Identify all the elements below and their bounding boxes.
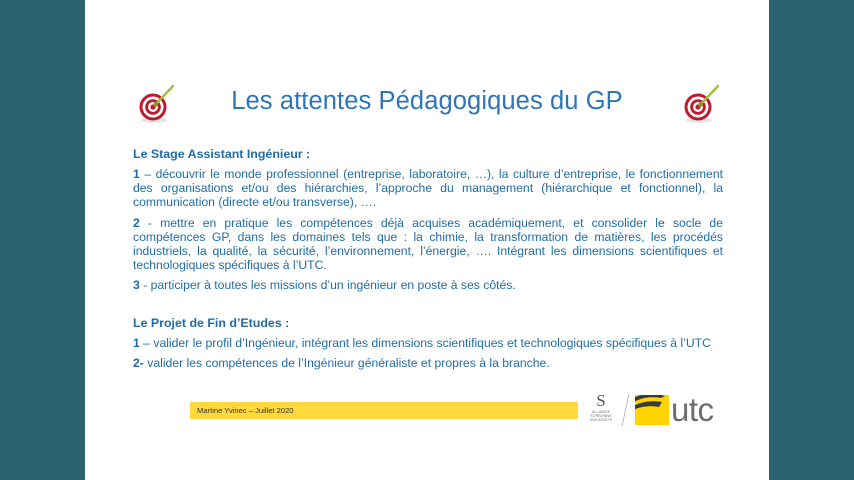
utc-wordmark: utc	[671, 391, 714, 429]
item-dash: -	[143, 278, 147, 292]
list-item: 1 – valider le profil d’Ingénieur, intég…	[133, 336, 723, 350]
item-number: 2	[133, 216, 140, 230]
item-text: valider le profil d’Ingénieur, intégrant…	[153, 336, 711, 350]
page-title: Les attentes Pédagogiques du GP	[85, 78, 769, 124]
item-number: 2-	[133, 356, 144, 370]
title-row: Les attentes Pédagogiques du GP	[85, 78, 769, 126]
item-number: 3	[133, 278, 140, 292]
item-number: 1	[133, 336, 140, 350]
sorbonne-s-mark: S	[581, 392, 621, 410]
alliance-sorbonne-universite-logo: S Alliance Sorbonne Université	[581, 392, 621, 428]
item-text: participer à toutes les missions d’un in…	[151, 278, 516, 292]
slide-canvas: Les attentes Pédagogiques du GP Le Sta	[85, 0, 769, 480]
item-number: 1	[133, 167, 140, 181]
sorbonne-line-3: Université	[581, 418, 621, 422]
slide-viewport: Les attentes Pédagogiques du GP Le Sta	[0, 0, 854, 480]
logo-divider	[622, 394, 630, 426]
section-heading-pfe: Le Projet de Fin d’Etudes :	[133, 315, 723, 331]
list-item: 3 - participer à toutes les missions d’u…	[133, 278, 723, 292]
item-dash: -	[148, 216, 152, 230]
list-item: 2- valider les compétences de l’Ingénieu…	[133, 356, 723, 370]
backdrop-band-right	[769, 0, 854, 480]
item-dash: –	[143, 336, 150, 350]
item-text: mettre en pratique les compétences déjà …	[133, 216, 723, 273]
item-text: valider les compétences de l’Ingénieur g…	[147, 356, 549, 370]
item-text: découvrir le monde professionnel (entrep…	[133, 167, 723, 209]
item-dash: –	[144, 167, 151, 181]
section-heading-stage: Le Stage Assistant Ingénieur :	[133, 146, 723, 162]
slide-body: Le Stage Assistant Ingénieur : 1 – décou…	[133, 146, 723, 376]
backdrop-band-left	[0, 0, 85, 480]
target-dart-icon	[678, 80, 724, 124]
section-spacer	[133, 299, 723, 315]
list-item: 1 – découvrir le monde professionnel (en…	[133, 167, 723, 210]
footer-credit: Martine Yvinec – Juillet 2020	[197, 404, 294, 417]
list-item: 2 - mettre en pratique les compétences d…	[133, 216, 723, 273]
slide-footer: Martine Yvinec – Juillet 2020 S Alliance…	[85, 400, 769, 440]
utc-swoosh-icon	[635, 395, 669, 425]
logo-group: S Alliance Sorbonne Université utc	[581, 392, 761, 432]
